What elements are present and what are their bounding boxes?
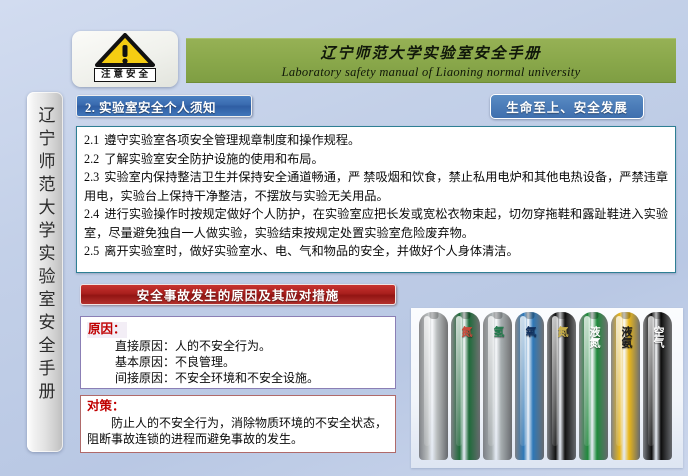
- notice-item-text: 了解实验室安全防护设施的使用和布局。: [104, 152, 323, 166]
- cylinder-highlight: [616, 316, 622, 446]
- gas-cylinder-row: 氮氢氧氮液氮液氨空气: [419, 312, 672, 462]
- notice-item: 2.2 了解实验室安全防护设施的使用和布局。: [84, 150, 668, 169]
- measure-panel: 对策： 防止人的不安全行为，消除物质环境的不安全状态，阻断事故连锁的进程而避免事…: [80, 395, 396, 453]
- gas-cylinder: 液氮: [579, 312, 608, 460]
- cylinder-highlight: [520, 316, 526, 446]
- notice-item: 2.1 遵守实验室各项安全管理规章制度和操作规程。: [84, 131, 668, 150]
- cause-item: 间接原因：不安全环境和不安全设施。: [87, 370, 389, 386]
- sidebar-spine: 辽宁师范大学实验室安全手册: [27, 92, 63, 452]
- notice-panel: 2.1 遵守实验室各项安全管理规章制度和操作规程。 2.2 了解实验室安全防护设…: [76, 126, 676, 273]
- gas-cylinder: 氧: [515, 312, 544, 460]
- cylinder-highlight: [456, 316, 462, 446]
- cylinder-valve-icon: [589, 312, 598, 319]
- accident-cause-banner-label: 安全事故发生的原因及其应对措施: [137, 285, 340, 304]
- gas-cylinders-photo: 氮氢氧氮液氮液氨空气: [411, 308, 683, 468]
- notice-item-number: 2.5: [84, 244, 99, 258]
- notice-item-number: 2.3: [84, 170, 99, 184]
- notice-item: 2.3 实验室内保持整洁卫生并保持安全通道畅通，严 禁吸烟和饮食，禁止私用电炉和…: [84, 168, 668, 205]
- accident-cause-banner: 安全事故发生的原因及其应对措施: [80, 284, 396, 305]
- cause-heading: 原因：: [87, 322, 127, 338]
- notice-item: 2.5 离开实验室时，做好实验室水、电、气和物品的安全，并做好个人身体清洁。: [84, 242, 668, 261]
- cylinder-valve-icon: [461, 312, 470, 319]
- section-tab-label: 2. 实验室安全个人须知: [85, 97, 216, 116]
- banner-title-en: Laboratory safety manual of Liaoning nor…: [282, 65, 581, 80]
- gas-cylinder: 氮: [547, 312, 576, 460]
- cylinder-valve-icon: [525, 312, 534, 319]
- cylinder-valve-icon: [653, 312, 662, 319]
- slogan-label: 生命至上、安全发展: [506, 97, 628, 116]
- notice-item: 2.4 进行实验操作时按规定做好个人防护，在实验室应把长发或宽松衣物束起，切勿穿…: [84, 205, 668, 242]
- measure-body: 防止人的不安全行为，消除物质环境的不安全状态，阻断事故连锁的进程而避免事故的发生…: [87, 415, 389, 449]
- title-banner: 辽宁师范大学实验室安全手册 Laboratory safety manual o…: [186, 38, 676, 83]
- measure-heading: 对策：: [87, 399, 389, 415]
- cylinder-valve-icon: [429, 312, 438, 319]
- notice-item-text: 离开实验室时，做好实验室水、电、气和物品的安全，并做好个人身体清洁。: [104, 244, 518, 258]
- warning-safety-card: 注意安全: [72, 31, 178, 87]
- notice-item-text: 遵守实验室各项安全管理规章制度和操作规程。: [104, 133, 360, 147]
- gas-cylinder: 氮: [451, 312, 480, 460]
- section-tab[interactable]: 2. 实验室安全个人须知: [76, 95, 252, 117]
- notice-item-number: 2.4: [84, 207, 99, 221]
- sidebar-spine-title: 辽宁师范大学实验室安全手册: [37, 106, 54, 405]
- cylinder-highlight: [584, 316, 590, 446]
- notice-item-number: 2.2: [84, 152, 99, 166]
- notice-item-text: 进行实验操作时按规定做好个人防护，在实验室应把长发或宽松衣物束起，切勿穿拖鞋和露…: [84, 207, 668, 240]
- gas-cylinder: 液氨: [611, 312, 640, 460]
- cylinder-valve-icon: [557, 312, 566, 319]
- notice-item-number: 2.1: [84, 133, 99, 147]
- cylinder-highlight: [424, 316, 430, 446]
- cylinder-valve-icon: [493, 312, 502, 319]
- cylinder-highlight: [488, 316, 494, 446]
- cause-panel: 原因： 直接原因：人的不安全行为。 基本原因：不良管理。 间接原因：不安全环境和…: [80, 316, 396, 389]
- warning-triangle-icon: [95, 33, 155, 67]
- gas-cylinder: 氢: [483, 312, 512, 460]
- notice-item-text: 实验室内保持整洁卫生并保持安全通道畅通，严 禁吸烟和饮食，禁止私用电炉和其他电热…: [84, 170, 668, 203]
- banner-title-cn: 辽宁师范大学实验室安全手册: [320, 42, 541, 63]
- cylinder-valve-icon: [621, 312, 630, 319]
- cause-item: 直接原因：人的不安全行为。: [87, 338, 389, 354]
- slide-canvas: 辽宁师范大学实验室安全手册 注意安全 辽宁师范大学实验室安全手册 Laborat…: [0, 0, 688, 476]
- cause-item: 基本原因：不良管理。: [87, 354, 389, 370]
- cylinder-highlight: [648, 316, 654, 446]
- gas-cylinder: [419, 312, 448, 460]
- gas-cylinder: 空气: [643, 312, 672, 460]
- slogan-badge: 生命至上、安全发展: [490, 94, 644, 119]
- warning-caption: 注意安全: [94, 68, 156, 82]
- cylinder-highlight: [552, 316, 558, 446]
